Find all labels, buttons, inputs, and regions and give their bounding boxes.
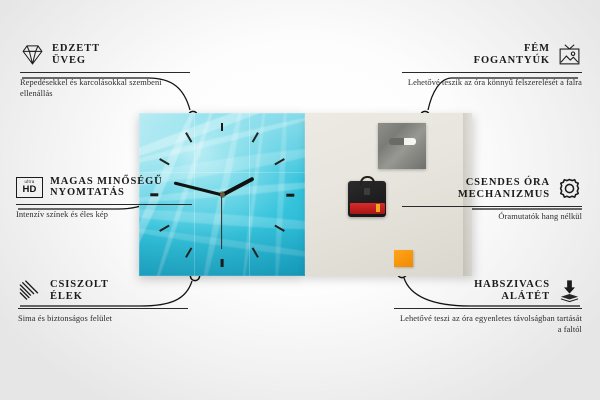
feature-description: Óramutatók hang nélkül — [402, 211, 582, 222]
feature-description: Lehetővé teszi az óra egyenletes távolsá… — [394, 313, 582, 336]
feature-silent-mechanism: CSENDES ÓRA MECHANIZMUS Óramutatók hang … — [402, 176, 582, 222]
mechanism-shaft — [364, 188, 370, 195]
title-line: CSENDES ÓRA — [466, 177, 550, 188]
mechanism-hook — [360, 176, 375, 185]
divider — [16, 204, 192, 205]
clock-center-cap — [220, 192, 225, 197]
feature-metal-hangers: FÉM FOGANTYÚK Lehetővé teszik az óra kön… — [402, 42, 582, 88]
metal-hanger-icon — [378, 123, 426, 169]
clock-tick — [159, 158, 170, 165]
foam-pad — [394, 250, 413, 267]
clock-tick — [286, 193, 294, 196]
title-line: ALÁTÉT — [501, 291, 550, 302]
title-line: ÉLEK — [50, 291, 109, 302]
ultra-hd-main: HD — [22, 185, 36, 195]
infographic-canvas: EDZETT ÜVEG Repedésekkel és karcolásokka… — [0, 0, 600, 400]
clock-second-hand — [221, 195, 222, 249]
title-line: MECHANIZMUS — [458, 189, 550, 200]
title-line: NYOMTATÁS — [50, 187, 163, 198]
title-line: HABSZIVACS — [474, 279, 550, 290]
feature-description: Sima és biztonságos felület — [18, 313, 188, 324]
polished-edges-icon — [18, 278, 43, 303]
clock-tick — [185, 247, 192, 258]
ultra-hd-icon: ultra HD — [16, 177, 43, 198]
feature-title: MAGAS MINŐSÉGŰ NYOMTATÁS — [50, 176, 163, 199]
clock-tick — [221, 123, 224, 131]
title-line: FOGANTYÚK — [474, 55, 550, 66]
clock-tick — [221, 259, 224, 267]
clock-mechanism — [348, 181, 386, 217]
title-line: FÉM — [524, 43, 550, 54]
title-line: MAGAS MINŐSÉGŰ — [50, 176, 163, 187]
gear-icon — [557, 176, 582, 201]
feature-title: EDZETT ÜVEG — [52, 43, 100, 66]
feature-polished-edges: CSISZOLT ÉLEK Sima és biztonságos felüle… — [18, 278, 188, 324]
picture-hanger-icon — [557, 42, 582, 67]
diamond-icon — [20, 42, 45, 67]
feature-title: CSISZOLT ÉLEK — [50, 279, 109, 302]
title-line: ÜVEG — [52, 55, 100, 66]
feature-title: HABSZIVACS ALÁTÉT — [474, 279, 550, 302]
clock-tick — [252, 132, 259, 143]
feature-description: Lehetővé teszik az óra könnyű felszerelé… — [402, 77, 582, 88]
clock-tick — [185, 132, 192, 143]
clock-tick — [252, 247, 259, 258]
feature-tempered-glass: EDZETT ÜVEG Repedésekkel és karcolásokka… — [20, 42, 190, 100]
hanger-slot — [389, 138, 416, 145]
clock-tick — [274, 224, 285, 231]
feature-high-quality-print: ultra HD MAGAS MINŐSÉGŰ NYOMTATÁS Intenz… — [16, 176, 192, 220]
divider — [402, 206, 582, 207]
feature-title: FÉM FOGANTYÚK — [474, 43, 550, 66]
feature-title: CSENDES ÓRA MECHANIZMUS — [458, 177, 550, 200]
divider — [20, 72, 190, 73]
battery — [350, 203, 385, 214]
divider — [402, 72, 582, 73]
divider — [394, 308, 582, 309]
title-line: CSISZOLT — [50, 279, 109, 290]
feature-description: Intenzív színek és éles kép — [16, 209, 192, 220]
feature-description: Repedésekkel és karcolásokkal szembeni e… — [20, 77, 190, 100]
title-line: EDZETT — [52, 43, 100, 54]
divider — [18, 308, 188, 309]
clock-tick — [274, 158, 285, 165]
clock-tick — [159, 224, 170, 231]
clock-hour-hand — [221, 176, 254, 196]
feature-foam-pad: HABSZIVACS ALÁTÉT Lehetővé teszi az óra … — [394, 278, 582, 336]
foam-pad-press-icon — [557, 278, 582, 303]
